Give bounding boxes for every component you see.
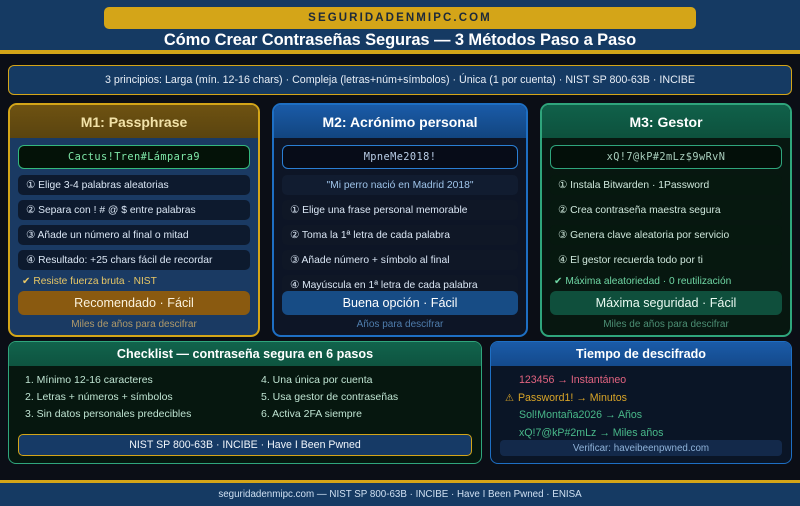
- method-m2-title: M2: Acrónimo personal: [322, 114, 477, 130]
- checklist-columns: 1. Mínimo 12-16 caracteres 2. Letras + n…: [9, 366, 481, 423]
- principles-bar: 3 principios: Larga (mín. 12-16 chars) ·…: [8, 65, 792, 95]
- method-m2-step-3: ③ Añade número + símbolo al final: [282, 250, 518, 270]
- warning-triangle-icon: ⚠: [505, 390, 514, 408]
- method-m2-step-1: ① Elige una frase personal memorable: [282, 200, 518, 220]
- verify-link[interactable]: Verificar: haveibeenpwned.com: [500, 440, 782, 456]
- method-m1-benefit-1: ✔ Resiste fuerza bruta · NIST: [18, 275, 250, 290]
- checklist-item-4: 4. Una única por cuenta: [261, 372, 481, 389]
- method-m3-step-4: ④ El gestor recuerda todo por ti: [550, 250, 782, 270]
- crack-time-panel: Tiempo de descifrado 123456 → Instantáne…: [490, 341, 792, 464]
- checklist-item-6: 6. Activa 2FA siempre: [261, 406, 481, 423]
- crack-time-row-3: Sol!Montaña2026 → Años: [505, 407, 791, 425]
- method-m1-title: M1: Passphrase: [81, 114, 188, 130]
- principles-text: 3 principios: Larga (mín. 12-16 chars) ·…: [105, 74, 695, 86]
- method-m1-step-1: ① Elige 3-4 palabras aleatorias: [18, 175, 250, 195]
- method-m2-body: MpneMe2018! "Mi perro nació en Madrid 20…: [274, 138, 526, 315]
- method-m3-badge: Máxima seguridad · Fácil: [550, 291, 782, 315]
- method-m2-crack-time: Años para descifrar: [282, 319, 518, 330]
- crack-time-row-1: 123456 → Instantáneo: [505, 372, 791, 390]
- method-m3-step-1: ① Instala Bitwarden · 1Password: [550, 175, 782, 195]
- method-m1-step-2: ② Separa con ! # @ $ entre palabras: [18, 200, 250, 220]
- checklist-item-5: 5. Usa gestor de contraseñas: [261, 389, 481, 406]
- infographic-page: SEGURIDADENMIPC.COM Cómo Crear Contraseñ…: [0, 0, 800, 506]
- method-m3-step-3: ③ Genera clave aleatoria por servicio: [550, 225, 782, 245]
- method-m3-header: M3: Gestor: [542, 105, 790, 138]
- method-m2-step-2: ② Toma la 1ª letra de cada palabra: [282, 225, 518, 245]
- crack-time-row-2: ⚠ Password1! → Minutos: [505, 390, 791, 408]
- method-card-m3: M3: Gestor xQ!7@kP#2mLz$9wRvN ① Instala …: [540, 103, 792, 337]
- checklist-panel: Checklist — contraseña segura en 6 pasos…: [8, 341, 482, 464]
- method-m1-step-4: ④ Resultado: +25 chars fácil de recordar: [18, 250, 250, 270]
- checklist-column-left: 1. Mínimo 12-16 caracteres 2. Letras + n…: [9, 372, 245, 423]
- method-card-m2: M2: Acrónimo personal MpneMe2018! "Mi pe…: [272, 103, 528, 337]
- method-card-m1: M1: Passphrase Cactus!Tren#Lámpara9 ① El…: [8, 103, 260, 337]
- method-m1-example: Cactus!Tren#Lámpara9: [18, 145, 250, 169]
- method-m3-body: xQ!7@kP#2mLz$9wRvN ① Instala Bitwarden ·…: [542, 138, 790, 304]
- method-m2-example: MpneMe2018!: [282, 145, 518, 169]
- method-m1-body: Cactus!Tren#Lámpara9 ① Elige 3-4 palabra…: [10, 138, 258, 304]
- brand-label: SEGURIDADENMIPC.COM: [308, 12, 492, 24]
- checklist-column-right: 4. Una única por cuenta 5. Usa gestor de…: [245, 372, 481, 423]
- method-m2-source-phrase: "Mi perro nació en Madrid 2018": [282, 175, 518, 195]
- method-m3-example: xQ!7@kP#2mLz$9wRvN: [550, 145, 782, 169]
- method-m3-benefit-1: ✔ Máxima aleatoriedad · 0 reutilización: [550, 275, 782, 290]
- method-m3-step-2: ② Crea contraseña maestra segura: [550, 200, 782, 220]
- method-m3-title: M3: Gestor: [629, 114, 702, 130]
- method-m1-step-3: ③ Añade un número al final o mitad: [18, 225, 250, 245]
- crack-time-row-2-text: Password1! → Minutos: [518, 390, 627, 408]
- page-title: Cómo Crear Contraseñas Seguras — 3 Métod…: [0, 31, 800, 50]
- footer-text: seguridadenmipc.com — NIST SP 800-63B · …: [218, 489, 581, 500]
- footer-bar: seguridadenmipc.com — NIST SP 800-63B · …: [0, 480, 800, 506]
- checklist-item-3: 3. Sin datos personales predecibles: [25, 406, 245, 423]
- method-m2-badge: Buena opción · Fácil: [282, 291, 518, 315]
- crack-time-row-1-text: 123456 → Instantáneo: [519, 372, 626, 390]
- crack-time-rows: 123456 → Instantáneo ⚠ Password1! → Minu…: [491, 366, 791, 442]
- method-m1-crack-time: Miles de años para descifrar: [18, 319, 250, 330]
- crack-time-row-3-text: Sol!Montaña2026 → Años: [519, 407, 642, 425]
- method-m1-badge: Recomendado · Fácil: [18, 291, 250, 315]
- method-m2-header: M2: Acrónimo personal: [274, 105, 526, 138]
- checklist-item-2: 2. Letras + números + símbolos: [25, 389, 245, 406]
- method-m3-crack-time: Miles de años para descifrar: [550, 319, 782, 330]
- brand-pill: SEGURIDADENMIPC.COM: [104, 7, 696, 29]
- crack-time-title: Tiempo de descifrado: [491, 342, 791, 366]
- checklist-item-1: 1. Mínimo 12-16 caracteres: [25, 372, 245, 389]
- checklist-title: Checklist — contraseña segura en 6 pasos: [9, 342, 481, 366]
- checklist-sources: NIST SP 800-63B · INCIBE · Have I Been P…: [18, 434, 472, 456]
- method-m1-header: M1: Passphrase: [10, 105, 258, 138]
